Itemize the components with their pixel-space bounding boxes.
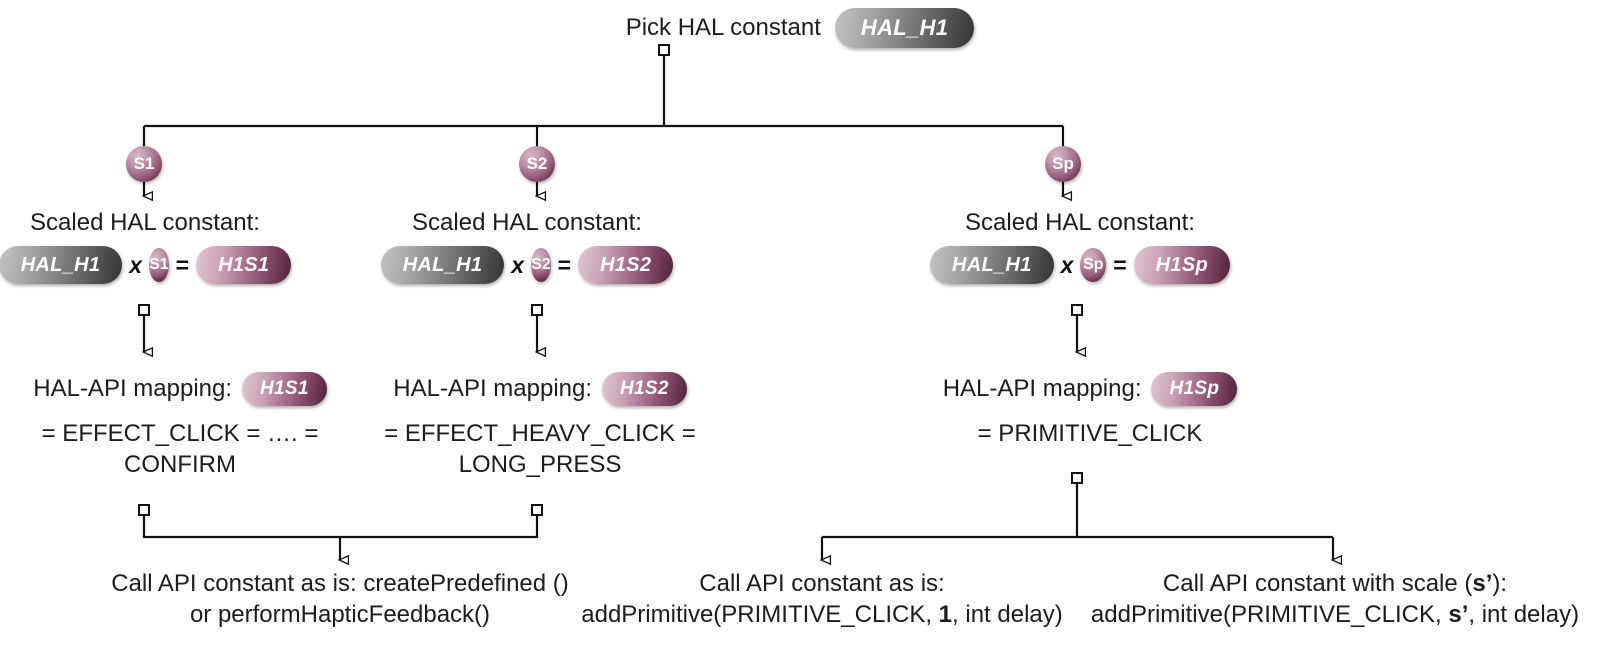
outcome-primitive-asis-call-pre: addPrimitive(PRIMITIVE_CLICK, <box>581 601 938 628</box>
root-pill-hal-h1[interactable]: HAL_H1 <box>835 8 974 48</box>
outcome-primitive-asis-scale-value: 1 <box>939 601 952 628</box>
outcome-primitive-scaled: Call API constant with scale (s’): addPr… <box>1070 568 1600 630</box>
connector-layer <box>0 0 1600 653</box>
branch-node-s1[interactable]: S1 <box>126 146 162 182</box>
equals-operator-s1: = <box>169 252 196 279</box>
outcome-primitive-scaled-line2: addPrimitive(PRIMITIVE_CLICK, s’, int de… <box>1070 599 1600 630</box>
outcome-primitive-asis-call-post: , int delay) <box>952 601 1063 628</box>
branch-node-sp[interactable]: Sp <box>1045 146 1081 182</box>
outcome-primitive-scaled-scale-value: s’ <box>1448 601 1468 628</box>
mapping-pill-s2[interactable]: H1S2 <box>602 372 687 406</box>
scaled-block-s1: Scaled HAL constant: HAL_H1 x S1 = H1S1 <box>0 208 290 284</box>
outcome-primitive-asis-line2: addPrimitive(PRIMITIVE_CLICK, 1, int del… <box>555 599 1089 630</box>
mapping-text-s2: = EFFECT_HEAVY_CLICK = LONG_PRESS <box>370 418 710 480</box>
formula-scale-circle-s2[interactable]: S2 <box>531 248 551 282</box>
multiply-operator-s2: x <box>504 252 531 279</box>
scaled-block-sp: Scaled HAL constant: HAL_H1 x Sp = H1Sp <box>930 208 1230 284</box>
formula-base-pill-s2[interactable]: HAL_H1 <box>381 246 505 284</box>
mapping-block-sp: HAL-API mapping: H1Sp = PRIMITIVE_CLICK <box>920 372 1260 449</box>
mapping-header-s1: HAL-API mapping: H1S1 <box>0 372 360 406</box>
outcome-predefined-line2: or performHapticFeedback() <box>60 599 620 630</box>
mapping-pill-sp[interactable]: H1Sp <box>1151 372 1237 406</box>
formula-base-pill-s1[interactable]: HAL_H1 <box>0 246 122 284</box>
outcome-predefined-line1: Call API constant as is: createPredefine… <box>60 568 620 599</box>
branch-circle-s1[interactable]: S1 <box>126 146 162 182</box>
branch-node-s2[interactable]: S2 <box>519 146 555 182</box>
mapping-label-sp: HAL-API mapping: <box>943 374 1142 404</box>
scaled-block-s2: Scaled HAL constant: HAL_H1 x S2 = H1S2 <box>382 208 672 284</box>
scaled-formula-s2: HAL_H1 x S2 = H1S2 <box>382 246 672 284</box>
outcome-primitive-scaled-call-pre: addPrimitive(PRIMITIVE_CLICK, <box>1091 601 1448 628</box>
mapping-text-sp: = PRIMITIVE_CLICK <box>920 418 1260 449</box>
mapping-pill-s1[interactable]: H1S1 <box>242 372 327 406</box>
outcome-primitive-asis-line1: Call API constant as is: <box>555 568 1089 599</box>
outcome-primitive-scaled-title-post: ): <box>1492 570 1507 597</box>
formula-scale-circle-s1[interactable]: S1 <box>149 248 169 282</box>
branch-circle-sp[interactable]: Sp <box>1045 146 1081 182</box>
outcome-primitive-scaled-call-post: , int delay) <box>1468 601 1579 628</box>
mapping-label-s2: HAL-API mapping: <box>393 374 592 404</box>
scaled-formula-sp: HAL_H1 x Sp = H1Sp <box>930 246 1230 284</box>
mapping-header-s2: HAL-API mapping: H1S2 <box>370 372 710 406</box>
multiply-operator-sp: x <box>1054 252 1081 279</box>
formula-result-pill-s2[interactable]: H1S2 <box>578 246 673 284</box>
mapping-text-s1: = EFFECT_CLICK = …. = CONFIRM <box>0 418 360 480</box>
multiply-operator-s1: x <box>122 252 149 279</box>
formula-scale-circle-sp[interactable]: Sp <box>1080 248 1106 282</box>
formula-result-pill-s1[interactable]: H1S1 <box>196 246 291 284</box>
outcome-primitive-scaled-title-pre: Call API constant with scale ( <box>1163 570 1472 597</box>
formula-result-pill-sp[interactable]: H1Sp <box>1134 246 1230 284</box>
mapping-label-s1: HAL-API mapping: <box>33 374 232 404</box>
formula-base-pill-sp[interactable]: HAL_H1 <box>930 246 1054 284</box>
scaled-heading-s1: Scaled HAL constant: <box>0 208 290 238</box>
scaled-heading-sp: Scaled HAL constant: <box>930 208 1230 238</box>
mapping-header-sp: HAL-API mapping: H1Sp <box>920 372 1260 406</box>
mapping-block-s1: HAL-API mapping: H1S1 = EFFECT_CLICK = …… <box>0 372 360 480</box>
root-label: Pick HAL constant <box>626 13 821 43</box>
outcome-predefined: Call API constant as is: createPredefine… <box>60 568 620 630</box>
outcome-primitive-scaled-title-symbol: s’ <box>1472 570 1492 597</box>
equals-operator-s2: = <box>551 252 578 279</box>
outcome-primitive-asis: Call API constant as is: addPrimitive(PR… <box>555 568 1089 630</box>
scaled-formula-s1: HAL_H1 x S1 = H1S1 <box>0 246 290 284</box>
branch-circle-s2[interactable]: S2 <box>519 146 555 182</box>
equals-operator-sp: = <box>1106 252 1133 279</box>
mapping-block-s2: HAL-API mapping: H1S2 = EFFECT_HEAVY_CLI… <box>370 372 710 480</box>
root-row: Pick HAL constant HAL_H1 <box>0 8 1600 48</box>
diagram-canvas: Pick HAL constant HAL_H1 S1 S2 Sp Scaled… <box>0 0 1600 653</box>
outcome-primitive-scaled-line1: Call API constant with scale (s’): <box>1070 568 1600 599</box>
scaled-heading-s2: Scaled HAL constant: <box>382 208 672 238</box>
